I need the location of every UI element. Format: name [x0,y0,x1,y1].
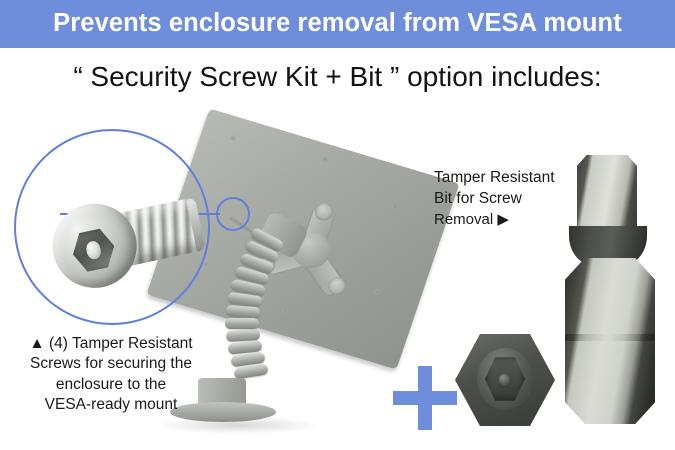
panel-screw-hole [230,135,237,142]
bit-hex-end-view-icon [455,334,555,426]
screws-caption-line-4: VESA-ready mount [8,395,214,415]
gooseneck-arm [208,234,292,394]
gooseneck-segment [226,305,261,318]
plus-symbol-icon [393,366,457,430]
header-banner: Prevents enclosure removal from VESA mou… [0,0,675,48]
bit-caption: Tamper Resistant Bit for Screw Removal ▶ [434,168,584,230]
product-infographic: Prevents enclosure removal from VESA mou… [0,0,675,450]
plus-vertical-bar [418,366,432,430]
magnifier-callout-circle [14,129,210,325]
subtitle-heading: “ Security Screw Kit + Bit ” option incl… [0,62,675,93]
bit-hex-shank [565,258,655,424]
screws-caption-line-2: Screws for securing the [8,354,214,374]
screws-caption: ▲ (4) Tamper Resistant Screws for securi… [8,334,214,416]
bit-hex-tip [577,155,637,233]
callout-target-circle [216,197,250,231]
panel-screw-hole [392,203,399,210]
security-pin-hole-icon [499,374,510,385]
screws-caption-line-3: enclosure to the [8,375,214,395]
panel-screw-hole [374,288,381,295]
illustration-stage: ▲ (4) Tamper Resistant Screws for securi… [0,118,675,450]
bit-caption-line-1: Tamper Resistant [434,168,584,189]
gooseneck-segment [225,318,259,329]
tamper-resistant-screw-icon [42,169,212,310]
bit-retaining-groove [565,334,655,341]
banner-title: Prevents enclosure removal from VESA mou… [53,11,622,37]
hex-pin-socket-icon [69,225,119,275]
tamper-resistant-bit-icon [563,148,657,424]
panel-screw-hole [322,156,329,163]
bit-caption-line-3: Removal ▶ [434,210,584,230]
bit-caption-line-2: Bit for Screw [434,189,584,210]
screws-caption-line-1: ▲ (4) Tamper Resistant [8,334,214,354]
mount-drop-shadow [158,416,318,434]
